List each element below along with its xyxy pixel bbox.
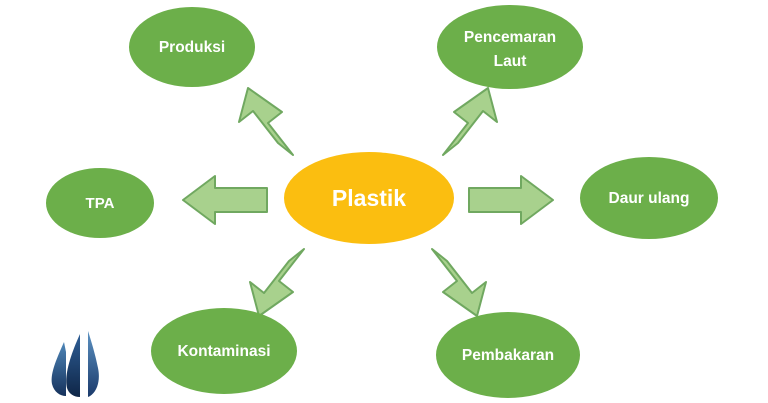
node-pencemaran-laut-label-line1: Pencemaran — [464, 29, 556, 46]
flame-logo-mid-petal — [66, 334, 80, 397]
concept-map: Produksi Pencemaran Laut Daur ulang Pemb… — [0, 0, 768, 403]
node-tpa-label: TPA — [86, 195, 115, 212]
node-pencemaran-laut[interactable]: Pencemaran Laut — [437, 5, 583, 89]
node-pembakaran-label: Pembakaran — [462, 347, 554, 364]
node-pencemaran-laut-label-line2: Laut — [494, 53, 527, 70]
flame-logo-left-petal — [52, 342, 66, 396]
node-tpa[interactable]: TPA — [46, 168, 154, 238]
arrow-down-left — [250, 249, 304, 316]
flame-logo — [52, 331, 99, 397]
node-kontaminasi-label: Kontaminasi — [177, 343, 270, 360]
node-plastik-center[interactable]: Plastik — [284, 152, 454, 244]
arrow-up-right — [443, 88, 497, 155]
node-pembakaran[interactable]: Pembakaran — [436, 312, 580, 398]
node-produksi-label: Produksi — [159, 39, 225, 56]
node-plastik-label: Plastik — [332, 185, 406, 211]
node-daur-ulang-label: Daur ulang — [609, 190, 690, 207]
node-daur-ulang[interactable]: Daur ulang — [580, 157, 718, 239]
diagram-canvas: e marnyuva — [0, 0, 768, 403]
arrow-down-right — [432, 249, 486, 316]
node-produksi[interactable]: Produksi — [129, 7, 255, 87]
arrow-left — [183, 176, 267, 224]
node-kontaminasi[interactable]: Kontaminasi — [151, 308, 297, 394]
flame-logo-right-petal — [88, 331, 99, 397]
arrow-right — [469, 176, 553, 224]
node-pencemaran-laut-shape — [437, 5, 583, 89]
arrow-up-left — [239, 88, 293, 155]
flame-logo-divider — [82, 332, 86, 397]
